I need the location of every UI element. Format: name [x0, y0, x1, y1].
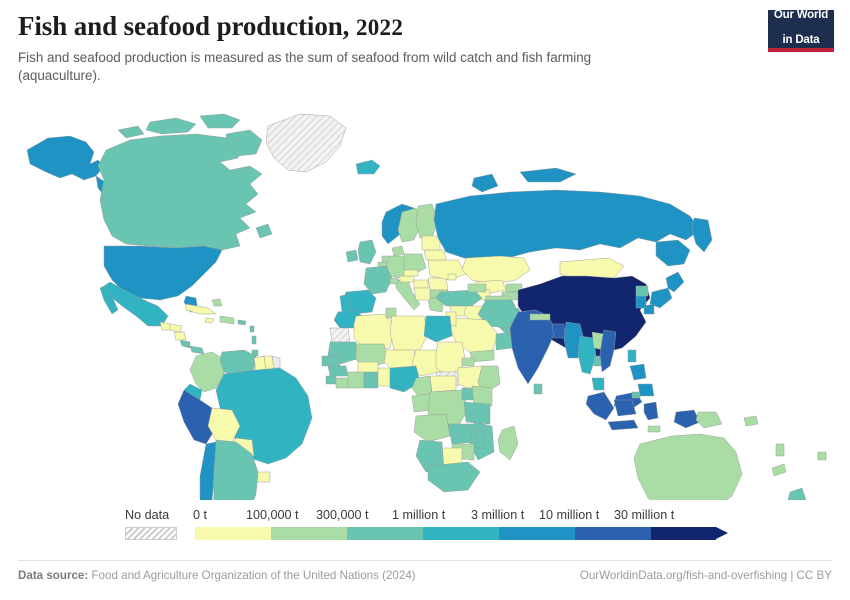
- country-canada-arctic-1[interactable]: [146, 118, 196, 134]
- country-hungary[interactable]: [414, 280, 428, 288]
- country-burkina[interactable]: [358, 362, 378, 372]
- country-russia-novaya[interactable]: [472, 174, 498, 192]
- country-turkey[interactable]: [436, 290, 482, 306]
- country-uruguay[interactable]: [256, 472, 270, 482]
- legend-bin-2[interactable]: [347, 527, 423, 540]
- country-malawi[interactable]: [476, 430, 484, 448]
- data-source-text: Food and Agriculture Organization of the…: [91, 569, 415, 582]
- country-bahamas[interactable]: [212, 299, 222, 306]
- country-malaysia-west[interactable]: [592, 378, 604, 390]
- country-togo-benin[interactable]: [378, 368, 390, 386]
- country-moldova[interactable]: [448, 274, 456, 280]
- country-canada-arctic-2[interactable]: [200, 114, 240, 128]
- country-baltics[interactable]: [422, 236, 440, 250]
- country-georgia-caucasus[interactable]: [468, 284, 486, 292]
- country-iceland[interactable]: [356, 160, 380, 174]
- country-indonesia-java[interactable]: [608, 420, 638, 430]
- map-legend[interactable]: No data 0 t 100,000 t 300,000 t 1 millio…: [0, 508, 850, 554]
- legend-tick-nodata: [151, 523, 152, 527]
- legend-label-6: 30 million t: [614, 508, 674, 522]
- legend-label-4: 3 million t: [471, 508, 524, 522]
- legend-no-data-swatch[interactable]: [125, 527, 177, 540]
- country-senegal[interactable]: [322, 356, 340, 366]
- map-svg[interactable]: [0, 100, 850, 500]
- data-source-line: Data source: Food and Agriculture Organi…: [18, 569, 416, 582]
- country-western-sahara-nodata[interactable]: [330, 328, 350, 342]
- country-sierra-leone[interactable]: [326, 376, 336, 384]
- owid-logo-line1: Our World: [774, 9, 828, 22]
- country-indonesia-sulawesi[interactable]: [644, 402, 658, 420]
- country-costa-rica[interactable]: [180, 340, 190, 348]
- country-czechia[interactable]: [404, 270, 418, 276]
- legend-bin-1[interactable]: [271, 527, 347, 540]
- owid-logo[interactable]: Our Worldin Data: [768, 10, 834, 52]
- country-new-zealand-north[interactable]: [788, 488, 806, 500]
- country-belarus[interactable]: [424, 250, 446, 260]
- country-russia-far-east[interactable]: [656, 240, 690, 266]
- country-portugal[interactable]: [340, 294, 350, 312]
- country-greenland-nodata[interactable]: [266, 114, 346, 172]
- page-title: Fish and seafood production, 2022: [18, 12, 778, 42]
- footer-divider: [18, 560, 832, 561]
- country-brunei[interactable]: [632, 392, 640, 398]
- country-vanuatu[interactable]: [776, 444, 784, 456]
- chart-subtitle: Fish and seafood production is measured …: [18, 49, 658, 85]
- country-philippines-2[interactable]: [638, 384, 654, 396]
- country-india[interactable]: [510, 310, 556, 384]
- country-solomon-islands[interactable]: [744, 416, 758, 426]
- country-sri-lanka[interactable]: [534, 384, 542, 394]
- country-bangladesh[interactable]: [552, 324, 566, 338]
- country-new-caledonia[interactable]: [772, 464, 786, 476]
- country-balkans-1[interactable]: [414, 288, 430, 300]
- legend-bin-0[interactable]: [195, 527, 271, 540]
- legend-bin-4[interactable]: [499, 527, 575, 540]
- country-cuba[interactable]: [186, 304, 216, 314]
- country-egypt[interactable]: [424, 316, 452, 342]
- legend-no-data-label: No data: [125, 508, 169, 522]
- country-car[interactable]: [430, 376, 456, 392]
- country-south-africa[interactable]: [428, 462, 480, 492]
- country-papua-new-guinea[interactable]: [696, 412, 722, 428]
- country-japan[interactable]: [666, 272, 684, 292]
- map-countries[interactable]: [27, 114, 826, 500]
- legend-overflow-arrow: [716, 527, 728, 539]
- country-switzerland[interactable]: [390, 278, 398, 284]
- country-jamaica[interactable]: [205, 318, 214, 323]
- owid-logo-line2: in Data: [774, 34, 828, 47]
- country-austria[interactable]: [400, 276, 414, 282]
- country-philippines-1[interactable]: [630, 364, 646, 380]
- country-taiwan[interactable]: [628, 350, 636, 362]
- country-angola[interactable]: [414, 414, 450, 442]
- country-indonesia-kalimantan[interactable]: [614, 400, 636, 416]
- legend-label-3: 1 million t: [392, 508, 445, 522]
- owid-logo-text: Our Worldin Data: [774, 9, 828, 48]
- world-choropleth-map[interactable]: [0, 100, 850, 500]
- country-romania[interactable]: [428, 278, 448, 290]
- country-fiji[interactable]: [818, 452, 826, 460]
- legend-bin-3[interactable]: [423, 527, 499, 540]
- country-indonesia-sumatra[interactable]: [586, 392, 614, 420]
- country-russia-arctic-islands[interactable]: [520, 168, 576, 182]
- country-oman[interactable]: [496, 332, 512, 350]
- country-cote-divoire[interactable]: [348, 372, 364, 388]
- country-ukraine[interactable]: [428, 260, 466, 280]
- country-ireland[interactable]: [346, 250, 358, 262]
- country-united-kingdom[interactable]: [358, 240, 376, 264]
- legend-label-1: 100,000 t: [246, 508, 299, 522]
- legend-bin-5[interactable]: [575, 527, 651, 540]
- country-south-korea[interactable]: [636, 296, 646, 308]
- country-russia-kamchatka[interactable]: [692, 218, 712, 252]
- country-madagascar[interactable]: [498, 426, 518, 460]
- legend-label-0: 0 t: [193, 508, 207, 522]
- owid-chart-page: Fish and seafood production, 2022 Fish a…: [0, 0, 850, 600]
- country-canada-arctic-3[interactable]: [118, 126, 144, 138]
- country-panama[interactable]: [190, 346, 204, 354]
- data-source-prefix: Data source:: [18, 569, 88, 582]
- legend-label-5: 10 million t: [539, 508, 599, 522]
- country-canada-newfoundland[interactable]: [256, 224, 272, 238]
- country-guinea[interactable]: [328, 366, 348, 376]
- country-tanzania[interactable]: [464, 402, 490, 424]
- chart-header: Fish and seafood production, 2022 Fish a…: [18, 12, 778, 85]
- country-nicaragua[interactable]: [174, 332, 186, 340]
- country-australia[interactable]: [634, 434, 742, 500]
- country-kazakhstan[interactable]: [462, 256, 530, 284]
- title-main-text: Fish and seafood production,: [18, 11, 349, 41]
- country-honduras[interactable]: [170, 324, 182, 332]
- country-hispaniola[interactable]: [220, 316, 234, 324]
- legend-label-2: 300,000 t: [316, 508, 369, 522]
- country-libya[interactable]: [390, 316, 428, 350]
- country-nepal[interactable]: [530, 314, 550, 320]
- country-timor[interactable]: [648, 426, 660, 432]
- country-france[interactable]: [364, 266, 392, 294]
- country-alaska[interactable]: [27, 136, 104, 180]
- country-lesser-antilles-1[interactable]: [250, 326, 254, 332]
- attribution-link[interactable]: OurWorldinData.org/fish-and-overfishing …: [580, 569, 832, 582]
- country-denmark[interactable]: [392, 246, 404, 256]
- country-north-korea[interactable]: [636, 286, 648, 296]
- legend-bin-6[interactable]: [651, 527, 716, 540]
- country-lesser-antilles-2[interactable]: [252, 336, 256, 344]
- country-eritrea[interactable]: [462, 358, 474, 366]
- title-year: 2022: [356, 15, 403, 40]
- legend-color-bar[interactable]: [195, 527, 716, 540]
- legend-inner: No data 0 t 100,000 t 300,000 t 1 millio…: [0, 508, 850, 554]
- country-liberia[interactable]: [336, 378, 348, 388]
- country-puerto-rico[interactable]: [238, 320, 246, 325]
- country-ghana[interactable]: [364, 372, 378, 388]
